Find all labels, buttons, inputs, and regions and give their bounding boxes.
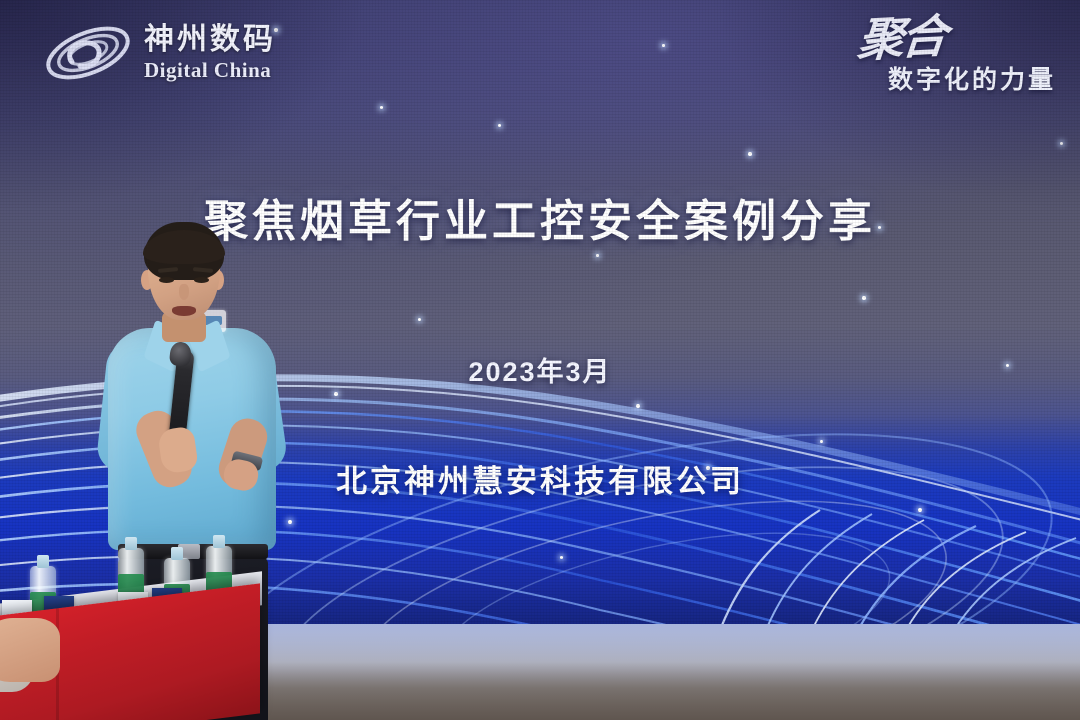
brand-logo: 神州数码 Digital China: [42, 16, 276, 90]
seated-attendee: [0, 618, 60, 682]
brand-name-cn: 神州数码: [144, 25, 276, 55]
mouth: [172, 306, 196, 316]
event-slogan: 聚合 数字化的力量: [858, 16, 1056, 93]
eye-right: [194, 277, 209, 283]
slogan-subtitle: 数字化的力量: [858, 68, 1056, 93]
nose: [179, 284, 189, 300]
galaxy-swirl-icon: [42, 16, 134, 90]
conference-stage-scene: 神州数码 Digital China 聚合 数字化的力量 聚焦烟草行业工控安全案…: [0, 0, 1080, 720]
eye-left: [159, 277, 174, 283]
brand-wordmark: 神州数码 Digital China: [144, 25, 276, 81]
slogan-calligraphy: 聚合: [856, 14, 947, 64]
brand-name-en: Digital China: [144, 60, 276, 81]
